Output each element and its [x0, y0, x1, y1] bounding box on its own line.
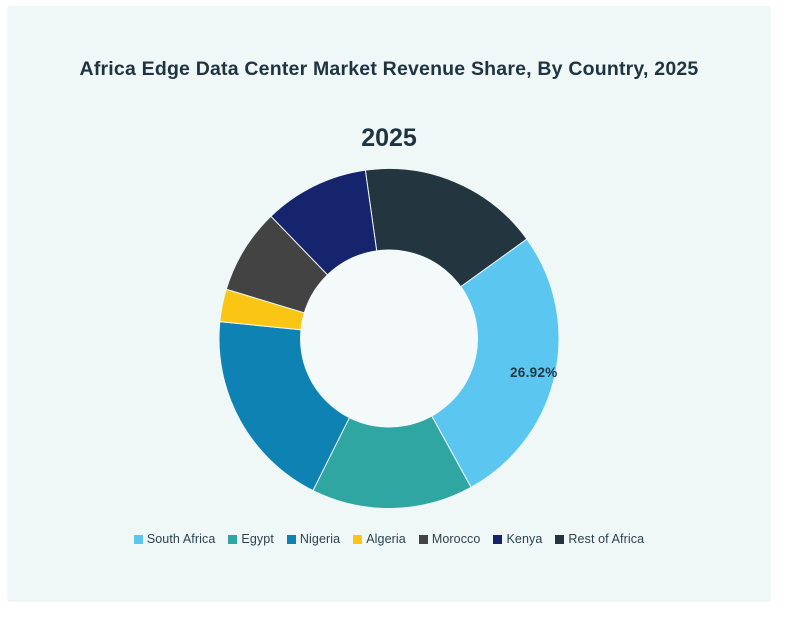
chart-legend: South AfricaEgyptNigeriaAlgeriaMoroccoKe…	[8, 532, 770, 546]
legend-item-label: South Africa	[147, 532, 216, 546]
legend-swatch-icon	[134, 535, 143, 544]
legend-item-kenya[interactable]: Kenya	[493, 532, 542, 546]
legend-item-south-africa[interactable]: South Africa	[134, 532, 216, 546]
legend-item-label: Kenya	[506, 532, 542, 546]
donut-chart	[8, 166, 770, 511]
legend-item-label: Nigeria	[300, 532, 340, 546]
legend-swatch-icon	[419, 535, 428, 544]
legend-item-algeria[interactable]: Algeria	[353, 532, 406, 546]
legend-item-nigeria[interactable]: Nigeria	[287, 532, 340, 546]
legend-swatch-icon	[228, 535, 237, 544]
legend-item-label: Algeria	[366, 532, 406, 546]
chart-panel: Africa Edge Data Center Market Revenue S…	[8, 6, 770, 600]
legend-item-rest-of-africa[interactable]: Rest of Africa	[555, 532, 644, 546]
legend-swatch-icon	[555, 535, 564, 544]
page-title: Africa Edge Data Center Market Revenue S…	[8, 58, 770, 81]
legend-item-label: Egypt	[241, 532, 273, 546]
donut-chart-svg	[217, 166, 562, 511]
legend-swatch-icon	[353, 535, 362, 544]
legend-item-egypt[interactable]: Egypt	[228, 532, 273, 546]
legend-item-label: Rest of Africa	[568, 532, 644, 546]
legend-swatch-icon	[287, 535, 296, 544]
legend-item-label: Morocco	[432, 532, 481, 546]
slice-data-label-south-africa: 26.92%	[510, 365, 558, 380]
donut-hole	[300, 250, 478, 428]
legend-item-morocco[interactable]: Morocco	[419, 532, 481, 546]
legend-swatch-icon	[493, 535, 502, 544]
chart-subtitle-year: 2025	[8, 124, 770, 153]
